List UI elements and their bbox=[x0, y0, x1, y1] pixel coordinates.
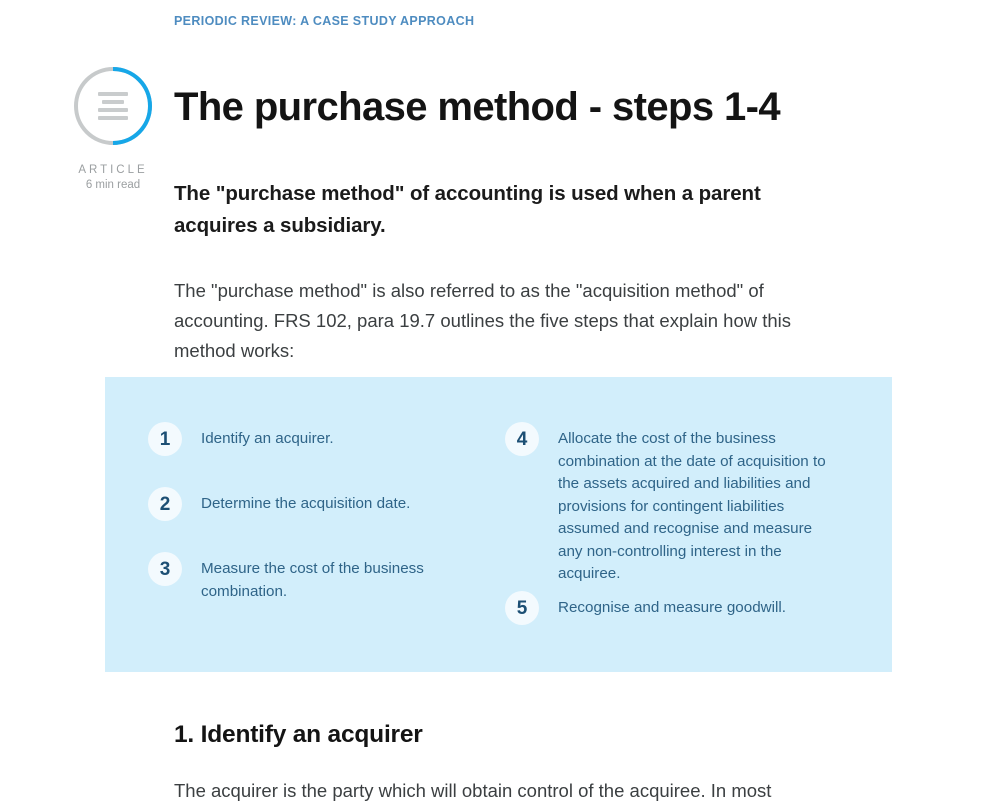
step-number: 5 bbox=[505, 591, 539, 625]
article-lede: The "purchase method" of accounting is u… bbox=[174, 178, 814, 242]
document-lines-icon bbox=[71, 64, 155, 148]
article-page: PERIODIC REVIEW: A CASE STUDY APPROACH A… bbox=[0, 0, 1000, 810]
step-item: 1 Identify an acquirer. bbox=[148, 422, 448, 456]
step-text: Recognise and measure goodwill. bbox=[558, 591, 786, 620]
page-title: The purchase method - steps 1-4 bbox=[174, 83, 780, 131]
step-item: 2 Determine the acquisition date. bbox=[148, 487, 448, 521]
step-text: Measure the cost of the business combina… bbox=[201, 552, 428, 603]
step-number: 4 bbox=[505, 422, 539, 456]
steps-callout: 1 Identify an acquirer. 2 Determine the … bbox=[105, 377, 892, 672]
step-number: 2 bbox=[148, 487, 182, 521]
eyebrow-label: PERIODIC REVIEW: A CASE STUDY APPROACH bbox=[174, 14, 474, 28]
section-heading: 1. Identify an acquirer bbox=[174, 719, 423, 751]
step-text: Allocate the cost of the business combin… bbox=[558, 422, 835, 586]
step-number: 1 bbox=[148, 422, 182, 456]
read-progress-ring bbox=[71, 64, 155, 148]
step-item: 5 Recognise and measure goodwill. bbox=[505, 591, 835, 625]
step-item: 3 Measure the cost of the business combi… bbox=[148, 552, 428, 603]
step-number: 3 bbox=[148, 552, 182, 586]
step-item: 4 Allocate the cost of the business comb… bbox=[505, 422, 835, 586]
article-intro-paragraph: The "purchase method" is also referred t… bbox=[174, 276, 819, 366]
step-text: Identify an acquirer. bbox=[201, 422, 334, 451]
article-badge: ARTICLE 6 min read bbox=[58, 64, 168, 191]
step-text: Determine the acquisition date. bbox=[201, 487, 410, 516]
badge-read-time: 6 min read bbox=[58, 179, 168, 191]
section-paragraph: The acquirer is the party which will obt… bbox=[174, 776, 824, 806]
badge-kicker-label: ARTICLE bbox=[58, 164, 168, 176]
